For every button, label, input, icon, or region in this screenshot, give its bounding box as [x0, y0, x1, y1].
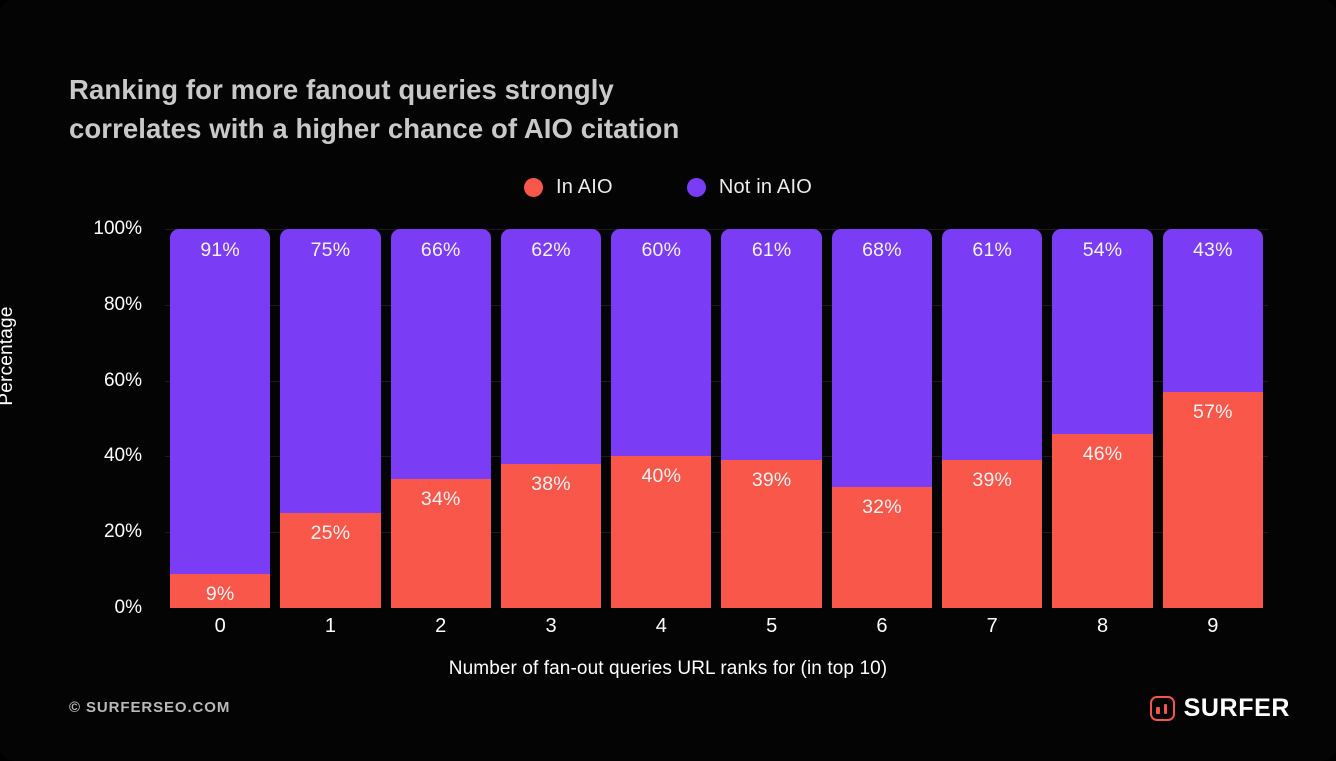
brand-name: SURFER: [1184, 694, 1290, 723]
bar-segment-not-in-aio[interactable]: 62%: [501, 229, 601, 464]
bar-column-6[interactable]: 68%32%: [827, 229, 937, 608]
bar-segment-in-aio[interactable]: 40%: [611, 456, 711, 608]
bar-segment-label: 62%: [501, 239, 601, 262]
bar-segment-label: 34%: [391, 488, 491, 511]
stacked-bar-chart: Percentage 0%20%40%60%80%100% 91%9%75%25…: [0, 0, 1336, 761]
bar-stack[interactable]: 54%46%: [1052, 229, 1152, 608]
chart-page: Ranking for more fanout queries strongly…: [0, 0, 1336, 761]
x-axis-ticks: 0123456789: [165, 615, 1268, 638]
x-tick-label: 3: [496, 615, 606, 638]
bar-stack[interactable]: 60%40%: [611, 229, 711, 608]
bar-stack[interactable]: 62%38%: [501, 229, 601, 608]
bar-segment-in-aio[interactable]: 39%: [721, 460, 821, 608]
bar-segment-in-aio[interactable]: 25%: [280, 513, 380, 608]
bar-segment-label: 25%: [280, 522, 380, 545]
bar-stack[interactable]: 75%25%: [280, 229, 380, 608]
bar-segment-label: 68%: [832, 239, 932, 262]
bar-segment-label: 91%: [170, 239, 270, 262]
bar-stack[interactable]: 68%32%: [832, 229, 932, 608]
bar-column-1[interactable]: 75%25%: [275, 229, 385, 608]
bar-segment-label: 38%: [501, 473, 601, 496]
bar-column-4[interactable]: 60%40%: [606, 229, 716, 608]
x-tick-label: 9: [1158, 615, 1268, 638]
bar-segment-in-aio[interactable]: 9%: [170, 574, 270, 608]
copyright-text: © SURFERSEO.COM: [69, 699, 230, 716]
bar-segment-label: 75%: [280, 239, 380, 262]
bar-group: 91%9%75%25%66%34%62%38%60%40%61%39%68%32…: [165, 229, 1268, 608]
bar-column-0[interactable]: 91%9%: [165, 229, 275, 608]
bar-segment-in-aio[interactable]: 38%: [501, 464, 601, 608]
bar-segment-label: 9%: [170, 583, 270, 606]
bar-segment-not-in-aio[interactable]: 61%: [942, 229, 1042, 460]
bar-segment-not-in-aio[interactable]: 43%: [1163, 229, 1263, 392]
bar-segment-label: 46%: [1052, 443, 1152, 466]
y-tick-label: 0%: [115, 597, 142, 619]
bar-segment-label: 43%: [1163, 239, 1263, 262]
bar-segment-label: 66%: [391, 239, 491, 262]
bar-segment-in-aio[interactable]: 32%: [832, 487, 932, 608]
y-tick-label: 40%: [104, 445, 142, 467]
y-axis-ticks: 0%20%40%60%80%100%: [0, 229, 160, 608]
bar-segment-not-in-aio[interactable]: 91%: [170, 229, 270, 574]
bar-segment-label: 60%: [611, 239, 711, 262]
bar-segment-label: 54%: [1052, 239, 1152, 262]
y-tick-label: 100%: [93, 218, 142, 240]
bar-stack[interactable]: 66%34%: [391, 229, 491, 608]
x-tick-label: 4: [606, 615, 716, 638]
bar-stack[interactable]: 61%39%: [942, 229, 1042, 608]
bar-column-8[interactable]: 54%46%: [1047, 229, 1157, 608]
bar-segment-label: 39%: [942, 469, 1042, 492]
plot-area: 91%9%75%25%66%34%62%38%60%40%61%39%68%32…: [165, 229, 1268, 608]
x-tick-label: 7: [937, 615, 1047, 638]
y-tick-label: 20%: [104, 521, 142, 543]
surfer-logo: SURFER: [1150, 694, 1290, 723]
bar-segment-label: 39%: [721, 469, 821, 492]
bar-segment-not-in-aio[interactable]: 68%: [832, 229, 932, 487]
bar-segment-label: 61%: [721, 239, 821, 262]
bar-segment-in-aio[interactable]: 57%: [1163, 392, 1263, 608]
bar-column-5[interactable]: 61%39%: [716, 229, 826, 608]
bar-segment-label: 61%: [942, 239, 1042, 262]
bar-stack[interactable]: 43%57%: [1163, 229, 1263, 608]
bar-segment-in-aio[interactable]: 34%: [391, 479, 491, 608]
bar-stack[interactable]: 61%39%: [721, 229, 821, 608]
bar-column-9[interactable]: 43%57%: [1158, 229, 1268, 608]
x-tick-label: 6: [827, 615, 937, 638]
x-tick-label: 5: [716, 615, 826, 638]
bar-segment-in-aio[interactable]: 39%: [942, 460, 1042, 608]
bar-segment-in-aio[interactable]: 46%: [1052, 434, 1152, 608]
x-tick-label: 2: [386, 615, 496, 638]
bar-stack[interactable]: 91%9%: [170, 229, 270, 608]
y-tick-label: 80%: [104, 294, 142, 316]
x-tick-label: 1: [275, 615, 385, 638]
x-axis-title: Number of fan-out queries URL ranks for …: [0, 658, 1336, 680]
bar-segment-label: 57%: [1163, 401, 1263, 424]
surfer-bars-icon: [1150, 696, 1175, 721]
bar-segment-not-in-aio[interactable]: 61%: [721, 229, 821, 460]
y-tick-label: 60%: [104, 370, 142, 392]
bar-segment-not-in-aio[interactable]: 60%: [611, 229, 711, 456]
bar-segment-not-in-aio[interactable]: 54%: [1052, 229, 1152, 434]
x-tick-label: 8: [1047, 615, 1157, 638]
bar-segment-not-in-aio[interactable]: 75%: [280, 229, 380, 513]
bar-column-7[interactable]: 61%39%: [937, 229, 1047, 608]
bar-segment-label: 32%: [832, 496, 932, 519]
bar-column-2[interactable]: 66%34%: [386, 229, 496, 608]
bar-segment-not-in-aio[interactable]: 66%: [391, 229, 491, 479]
bar-segment-label: 40%: [611, 465, 711, 488]
bar-column-3[interactable]: 62%38%: [496, 229, 606, 608]
x-tick-label: 0: [165, 615, 275, 638]
